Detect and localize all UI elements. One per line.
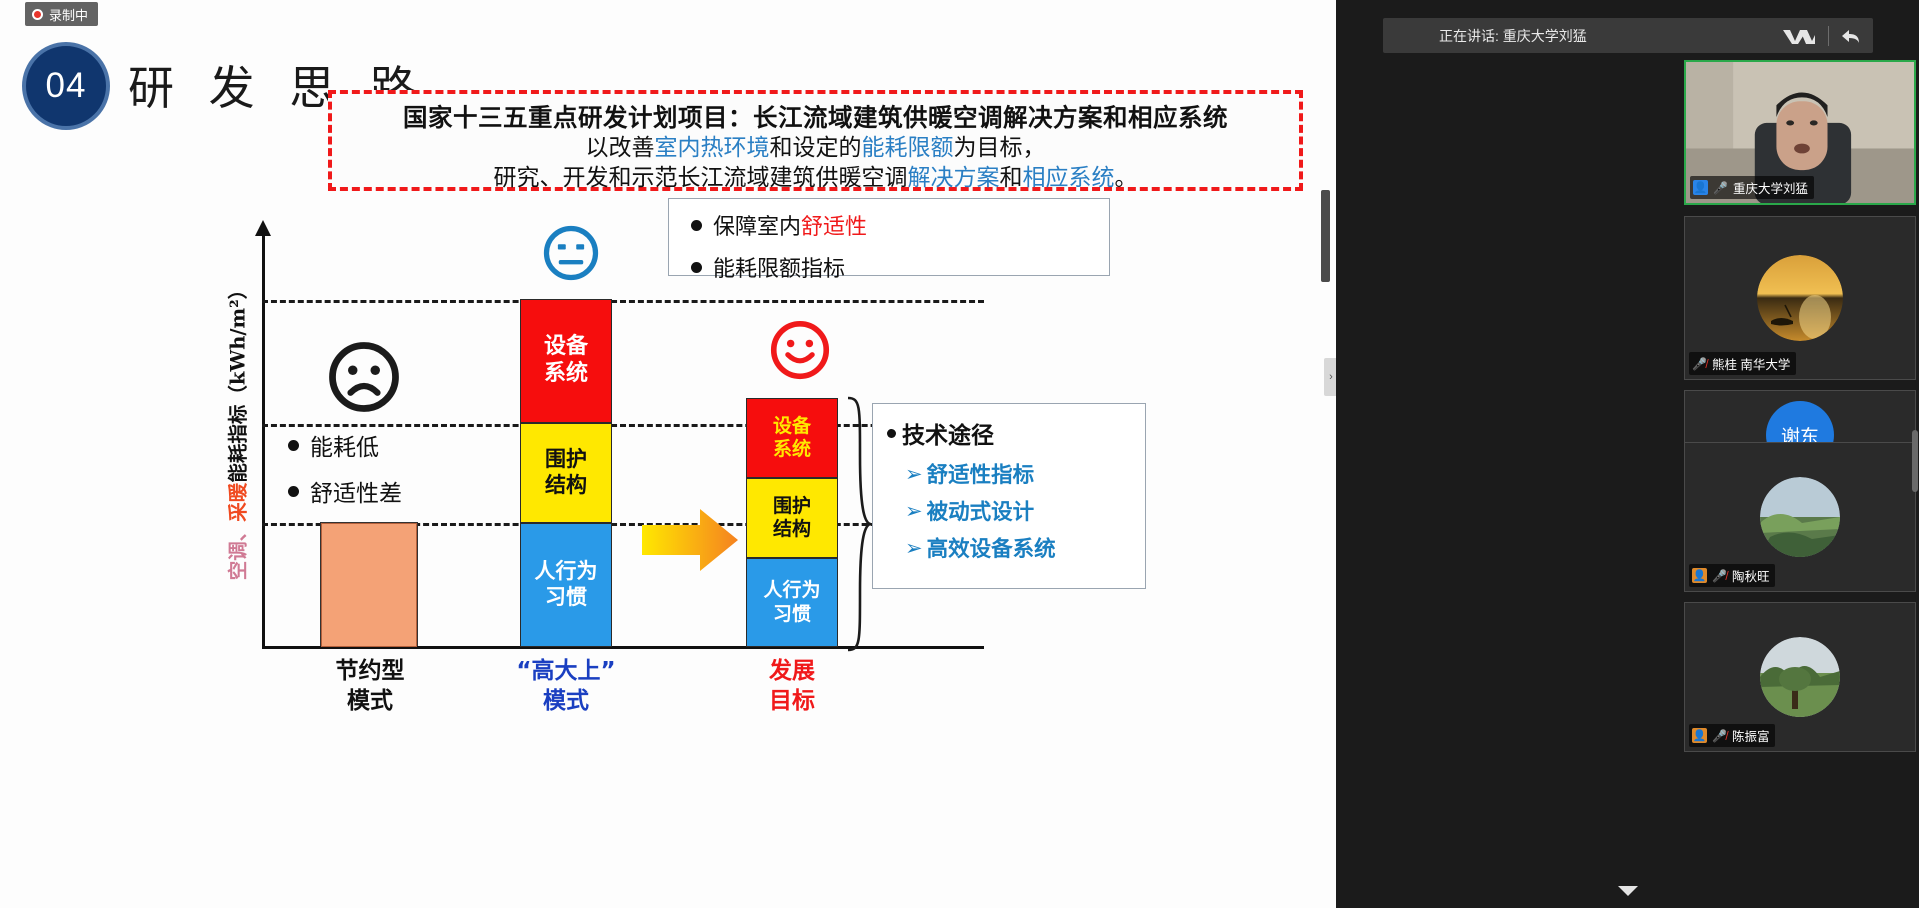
recording-label: 录制中 [49,5,88,24]
screen-root: 录制中 04 研 发 思 路 国家十三五重点研发计划项目：长江流域建筑供暖空调解… [0,0,1919,908]
segment-label-line1: 设备 [773,415,811,438]
participant-icon: 👤 [1692,728,1707,743]
right-callout-heading-text: 技术途径 [902,416,994,450]
scope-text-1: 研究、开发和示范长江流域建筑供暖空调 [494,165,908,191]
participant-tile-1[interactable]: 🎤̸ 熊桂 南华大学 [1684,216,1916,380]
segment-label-line2: 结构 [545,473,587,499]
category-label-1-line1: 节约型 [300,656,440,686]
participant-name-row-3: 👤 🎤̸ 陶秋旺 [1689,564,1775,587]
scope-text-3: 。 [1115,165,1138,191]
left-callout-item-1: 能耗低 [288,428,528,462]
project-goal-line: 以改善室内热环境和设定的能耗限额为目标， [346,133,1285,163]
goal-text-2: 和设定的 [770,135,862,161]
segment-label-line2: 结构 [773,518,811,541]
chevron-right-icon: ➢ [905,499,923,523]
bar-segment-behaviour-1: 人行为 习惯 [520,523,612,647]
right-callout-box: 技术途径 ➢ 舒适性指标 ➢ 被动式设计 ➢ 高效设备系统 [872,403,1146,589]
segment-label-line1: 人行为 [535,559,598,585]
goal-highlight-1: 室内热环境 [655,135,770,161]
top-callout-item-2: 能耗限额指标 [691,251,1109,283]
energy-bar-chart: 空调、采暖能耗指标（kWh/m²） 设备 系统 围护 [200,200,1200,720]
participant-name-row-4: 👤 🎤̸ 陈振富 [1689,724,1775,747]
participant-avatar-3 [1760,477,1840,557]
divider [1828,26,1829,46]
scope-highlight-2: 相应系统 [1023,165,1115,191]
active-speaker-bar: 正在讲话: 重庆大学刘猛 [1383,18,1873,53]
y-axis-label-part-2: 采暖 [227,483,250,522]
right-callout-item-3: ➢ 高效设备系统 [887,532,1145,563]
participant-icon: 👤 [1693,180,1708,195]
participant-name-row-1: 🎤̸ 熊桂 南华大学 [1689,352,1796,375]
record-dot-icon [32,9,43,20]
project-scope-line: 研究、开发和示范长江流域建筑供暖空调解决方案和相应系统。 [346,163,1285,193]
category-label-2: “高大上” 模式 [496,656,636,717]
mic-on-icon: 🎤 [1713,181,1728,195]
right-callout-item-1-text: 舒适性指标 [927,458,1035,489]
category-label-3: 发展 目标 [722,656,862,717]
sad-face-icon [328,341,400,413]
top-callout-item-1-text: 保障室内 [713,215,801,240]
bar-group-3: 设备 系统 围护 结构 人行为 习惯 [746,398,838,647]
project-title-line: 国家十三五重点研发计划项目：长江流域建筑供暖空调解决方案和相应系统 [346,102,1285,133]
participant-name-row-0: 👤 🎤 重庆大学刘猛 [1690,176,1814,199]
segment-label-line1: 设备 [544,334,588,361]
right-callout-item-3-text: 高效设备系统 [927,532,1056,563]
section-number: 04 [46,66,87,106]
bar-segment-equipment-system-1: 设备 系统 [520,299,612,423]
participant-name-4: 陈振富 [1732,726,1770,745]
category-label-3-line1: 发展 [722,656,862,686]
bar-group-1 [320,522,418,646]
left-callout-box: 能耗低 舒适性差 [288,428,528,508]
left-callout-item-2: 舒适性差 [288,474,528,508]
y-axis-label-part-3: 能耗指标（kWh/m²） [227,280,250,483]
left-callout-item-1-text: 能耗低 [310,428,379,462]
curly-brace-icon [846,396,872,652]
goal-text-1: 以改善 [586,135,655,161]
bullet-dot-icon [691,262,702,273]
scroll-down-button[interactable] [1336,874,1919,908]
participant-tile-4[interactable]: 👤 🎤̸ 陈振富 [1684,602,1916,752]
y-axis-label-part-1: 空调、 [227,522,250,581]
section-number-badge: 04 [22,42,110,130]
panel-scrollbar[interactable] [1912,430,1918,492]
bar-group-2: 设备 系统 围护 结构 人行为 习惯 [520,299,612,647]
recording-indicator: 录制中 [25,2,98,26]
presentation-slide: 录制中 04 研 发 思 路 国家十三五重点研发计划项目：长江流域建筑供暖空调解… [0,0,1336,908]
category-label-1-line2: 模式 [300,686,440,716]
right-callout-heading: 技术途径 [887,416,1145,450]
participant-avatar-1 [1757,255,1843,341]
top-callout-item-1-highlight: 舒适性 [801,215,867,240]
participant-name-1: 熊桂 南华大学 [1712,354,1790,373]
participant-icon: 👤 [1692,568,1707,583]
video-participants-panel: 正在讲话: 重庆大学刘猛 [1336,0,1919,908]
y-axis-line [262,230,265,648]
reply-arrow-icon[interactable] [1841,27,1861,45]
top-callout-item-2-text: 能耗限额指标 [713,251,845,283]
category-label-2-line1: “高大上” [496,656,636,686]
happy-face-icon [770,320,830,380]
bar-segment-envelope-2: 围护 结构 [746,478,838,558]
bar-segment-equipment-system-2: 设备 系统 [746,398,838,478]
gridline-top [262,300,984,303]
bullet-dot-icon [887,429,896,438]
participant-name-0: 重庆大学刘猛 [1733,178,1808,197]
neutral-face-icon [543,225,599,281]
category-label-1: 节约型 模式 [300,656,440,717]
chevron-right-icon: ➢ [905,462,923,486]
scope-text-2: 和 [1000,165,1023,191]
y-axis-label: 空调、采暖能耗指标（kWh/m²） [214,230,258,630]
category-label-2-line2: 模式 [496,686,636,716]
bullet-dot-icon [288,486,299,497]
bullet-dot-icon [288,440,299,451]
active-speaker-label: 正在讲话: 重庆大学刘猛 [1383,26,1587,46]
category-label-3-line2: 目标 [722,686,862,716]
segment-label-line2: 习惯 [773,603,811,626]
bar-segment-behaviour-2: 人行为 习惯 [746,558,838,647]
right-callout-item-1: ➢ 舒适性指标 [887,458,1145,489]
chevron-right-icon: ➢ [905,536,923,560]
orange-right-arrow-icon [640,505,740,575]
bar-segment-envelope-1: 围护 结构 [520,423,612,523]
goal-highlight-2: 能耗限额 [862,135,954,161]
segment-label-line1: 围护 [773,495,811,518]
bullet-dot-icon [691,220,702,231]
chevron-down-icon [1617,885,1639,897]
goal-text-3: 为目标， [954,135,1046,161]
participant-name-3: 陶秋旺 [1732,566,1770,585]
left-callout-item-2-text: 舒适性差 [310,474,402,508]
mic-muted-icon: 🎤̸ [1712,569,1727,583]
top-callout-box: 保障室内舒适性 能耗限额指标 [668,198,1110,276]
mic-muted-icon: 🎤̸ [1712,729,1727,743]
scope-highlight-1: 解决方案 [908,165,1000,191]
bar-segment-saving-mode [321,523,417,647]
slide-scroll-strip[interactable] [1321,190,1330,282]
participant-tile-3[interactable]: 👤 🎤̸ 陶秋旺 [1684,442,1916,592]
mic-muted-icon: 🎤̸ [1692,357,1707,371]
participant-avatar-4 [1760,637,1840,717]
segment-label-line1: 围护 [545,447,587,473]
project-statement-box: 国家十三五重点研发计划项目：长江流域建筑供暖空调解决方案和相应系统 以改善室内热… [328,90,1303,191]
participant-tile-0[interactable]: 👤 🎤 重庆大学刘猛 [1684,60,1916,205]
segment-label-line2: 系统 [773,438,811,461]
right-callout-item-2: ➢ 被动式设计 [887,495,1145,526]
segment-label-line2: 系统 [544,361,588,388]
right-callout-item-2-text: 被动式设计 [927,495,1035,526]
segment-label-line2: 习惯 [545,585,587,611]
segment-label-line1: 人行为 [763,579,820,602]
top-callout-item-1: 保障室内舒适性 [691,209,1109,241]
view-layout-icon[interactable] [1782,27,1816,45]
